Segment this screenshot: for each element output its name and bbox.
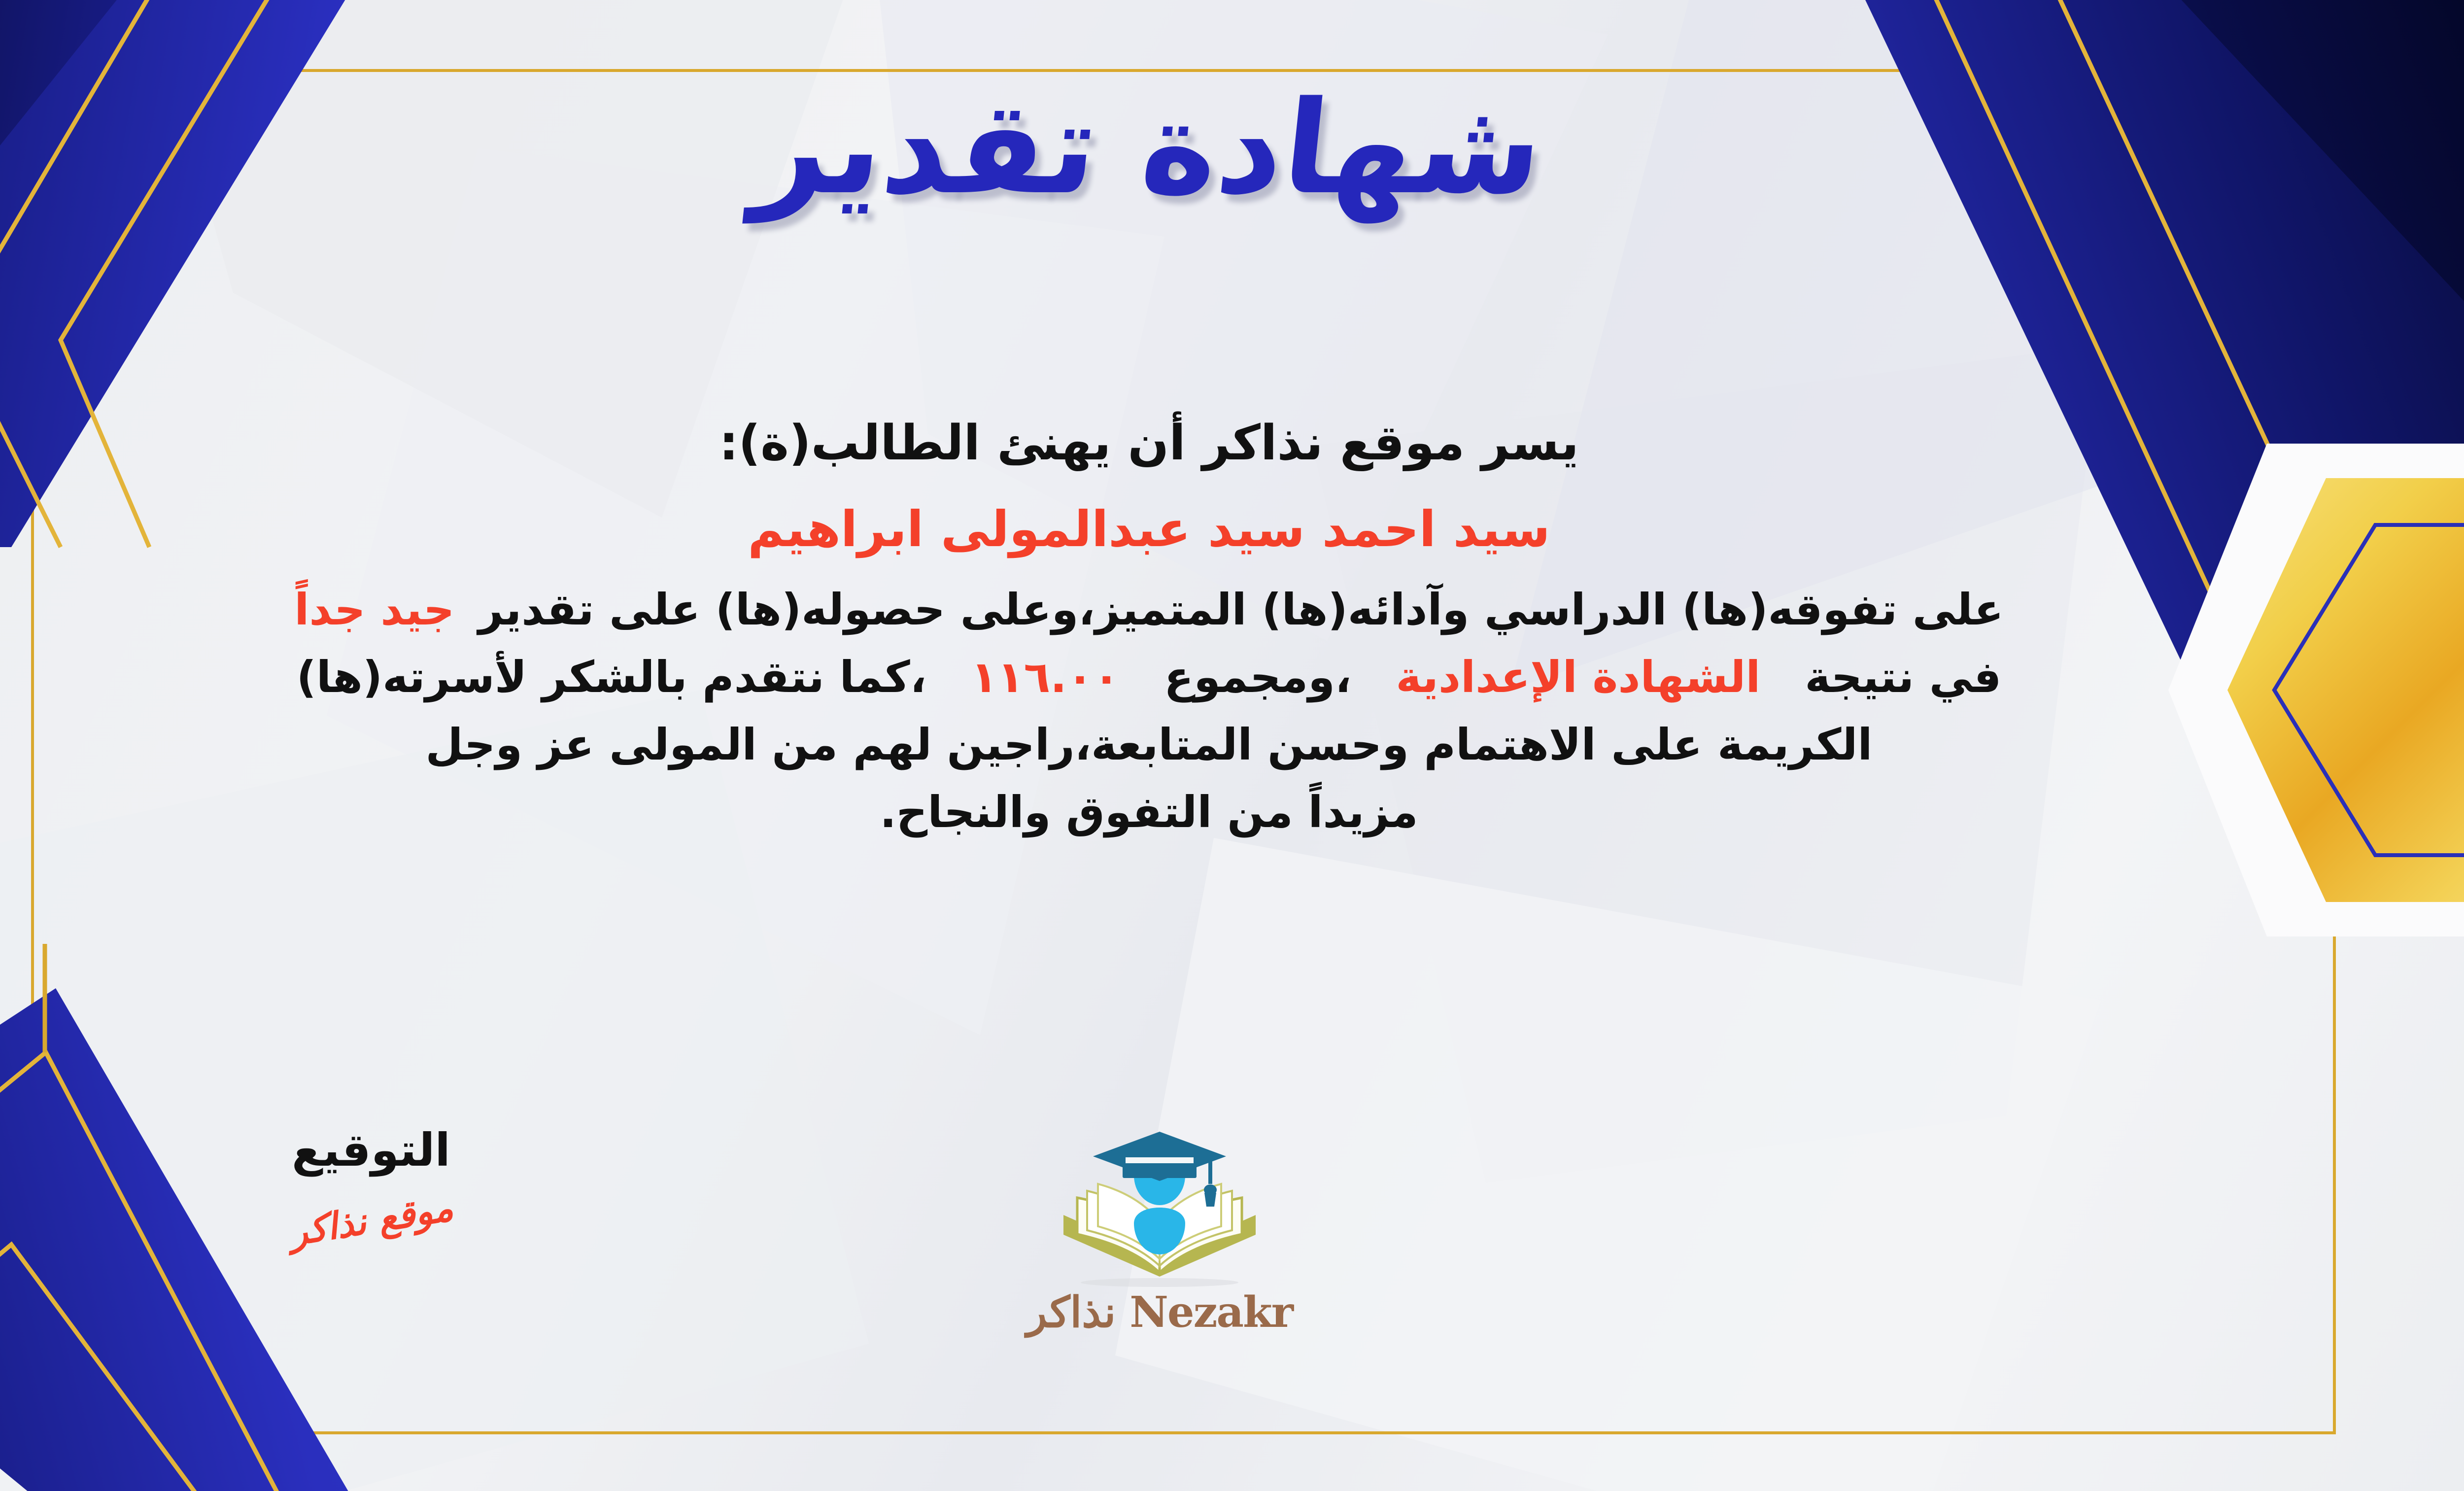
intro-line: يسر موقع نذاكر أن يهنئ الطالب(ة): — [0, 409, 2301, 478]
certificate-title: شهادة تقدير — [0, 74, 2464, 223]
body-line-4: مزيداً من التفوق والنجاح. — [0, 782, 2301, 843]
logo-mark — [1054, 1129, 1266, 1291]
body-line-1-text: على تفوقه(ها) الدراسي وآدائه(ها) المتميز… — [478, 584, 2003, 635]
body-line-2: في نتيجةالشهادة الإعدادية،ومجموع١١٦.٠٠،ك… — [0, 647, 2301, 708]
exam-name: الشهادة الإعدادية — [1396, 652, 1760, 702]
signature-label: التوقيع — [199, 1124, 544, 1177]
body-line-2-prefix: في نتيجة — [1805, 652, 2001, 702]
body-line-2-suffix: ،كما نتقدم بالشكر لأسرته(ها) — [297, 652, 927, 702]
total-score: ١١٦.٠٠ — [971, 652, 1120, 702]
certificate-body: يسر موقع نذاكر أن يهنئ الطالب(ة): سيد اح… — [0, 409, 2301, 843]
signature-block: التوقيع موقع نذاكر — [199, 1124, 544, 1242]
grade-value: جيد جداً — [294, 584, 454, 635]
body-line-2-mid: ،ومجموع — [1164, 652, 1351, 702]
body-line-3: الكريمة على الاهتمام وحسن المتابعة،راجين… — [0, 714, 2301, 776]
body-line-1: على تفوقه(ها) الدراسي وآدائه(ها) المتميز… — [0, 579, 2301, 641]
certificate-canvas: شهادة تقدير يسر موقع نذاكر أن يهنئ الطال… — [0, 0, 2464, 1491]
logo-wordmark: Nezakr نذاكر — [982, 1287, 1337, 1337]
site-logo: Nezakr نذاكر — [982, 1129, 1337, 1337]
student-name: سيد احمد سيد عبدالمولى ابراهيم — [0, 494, 2301, 564]
